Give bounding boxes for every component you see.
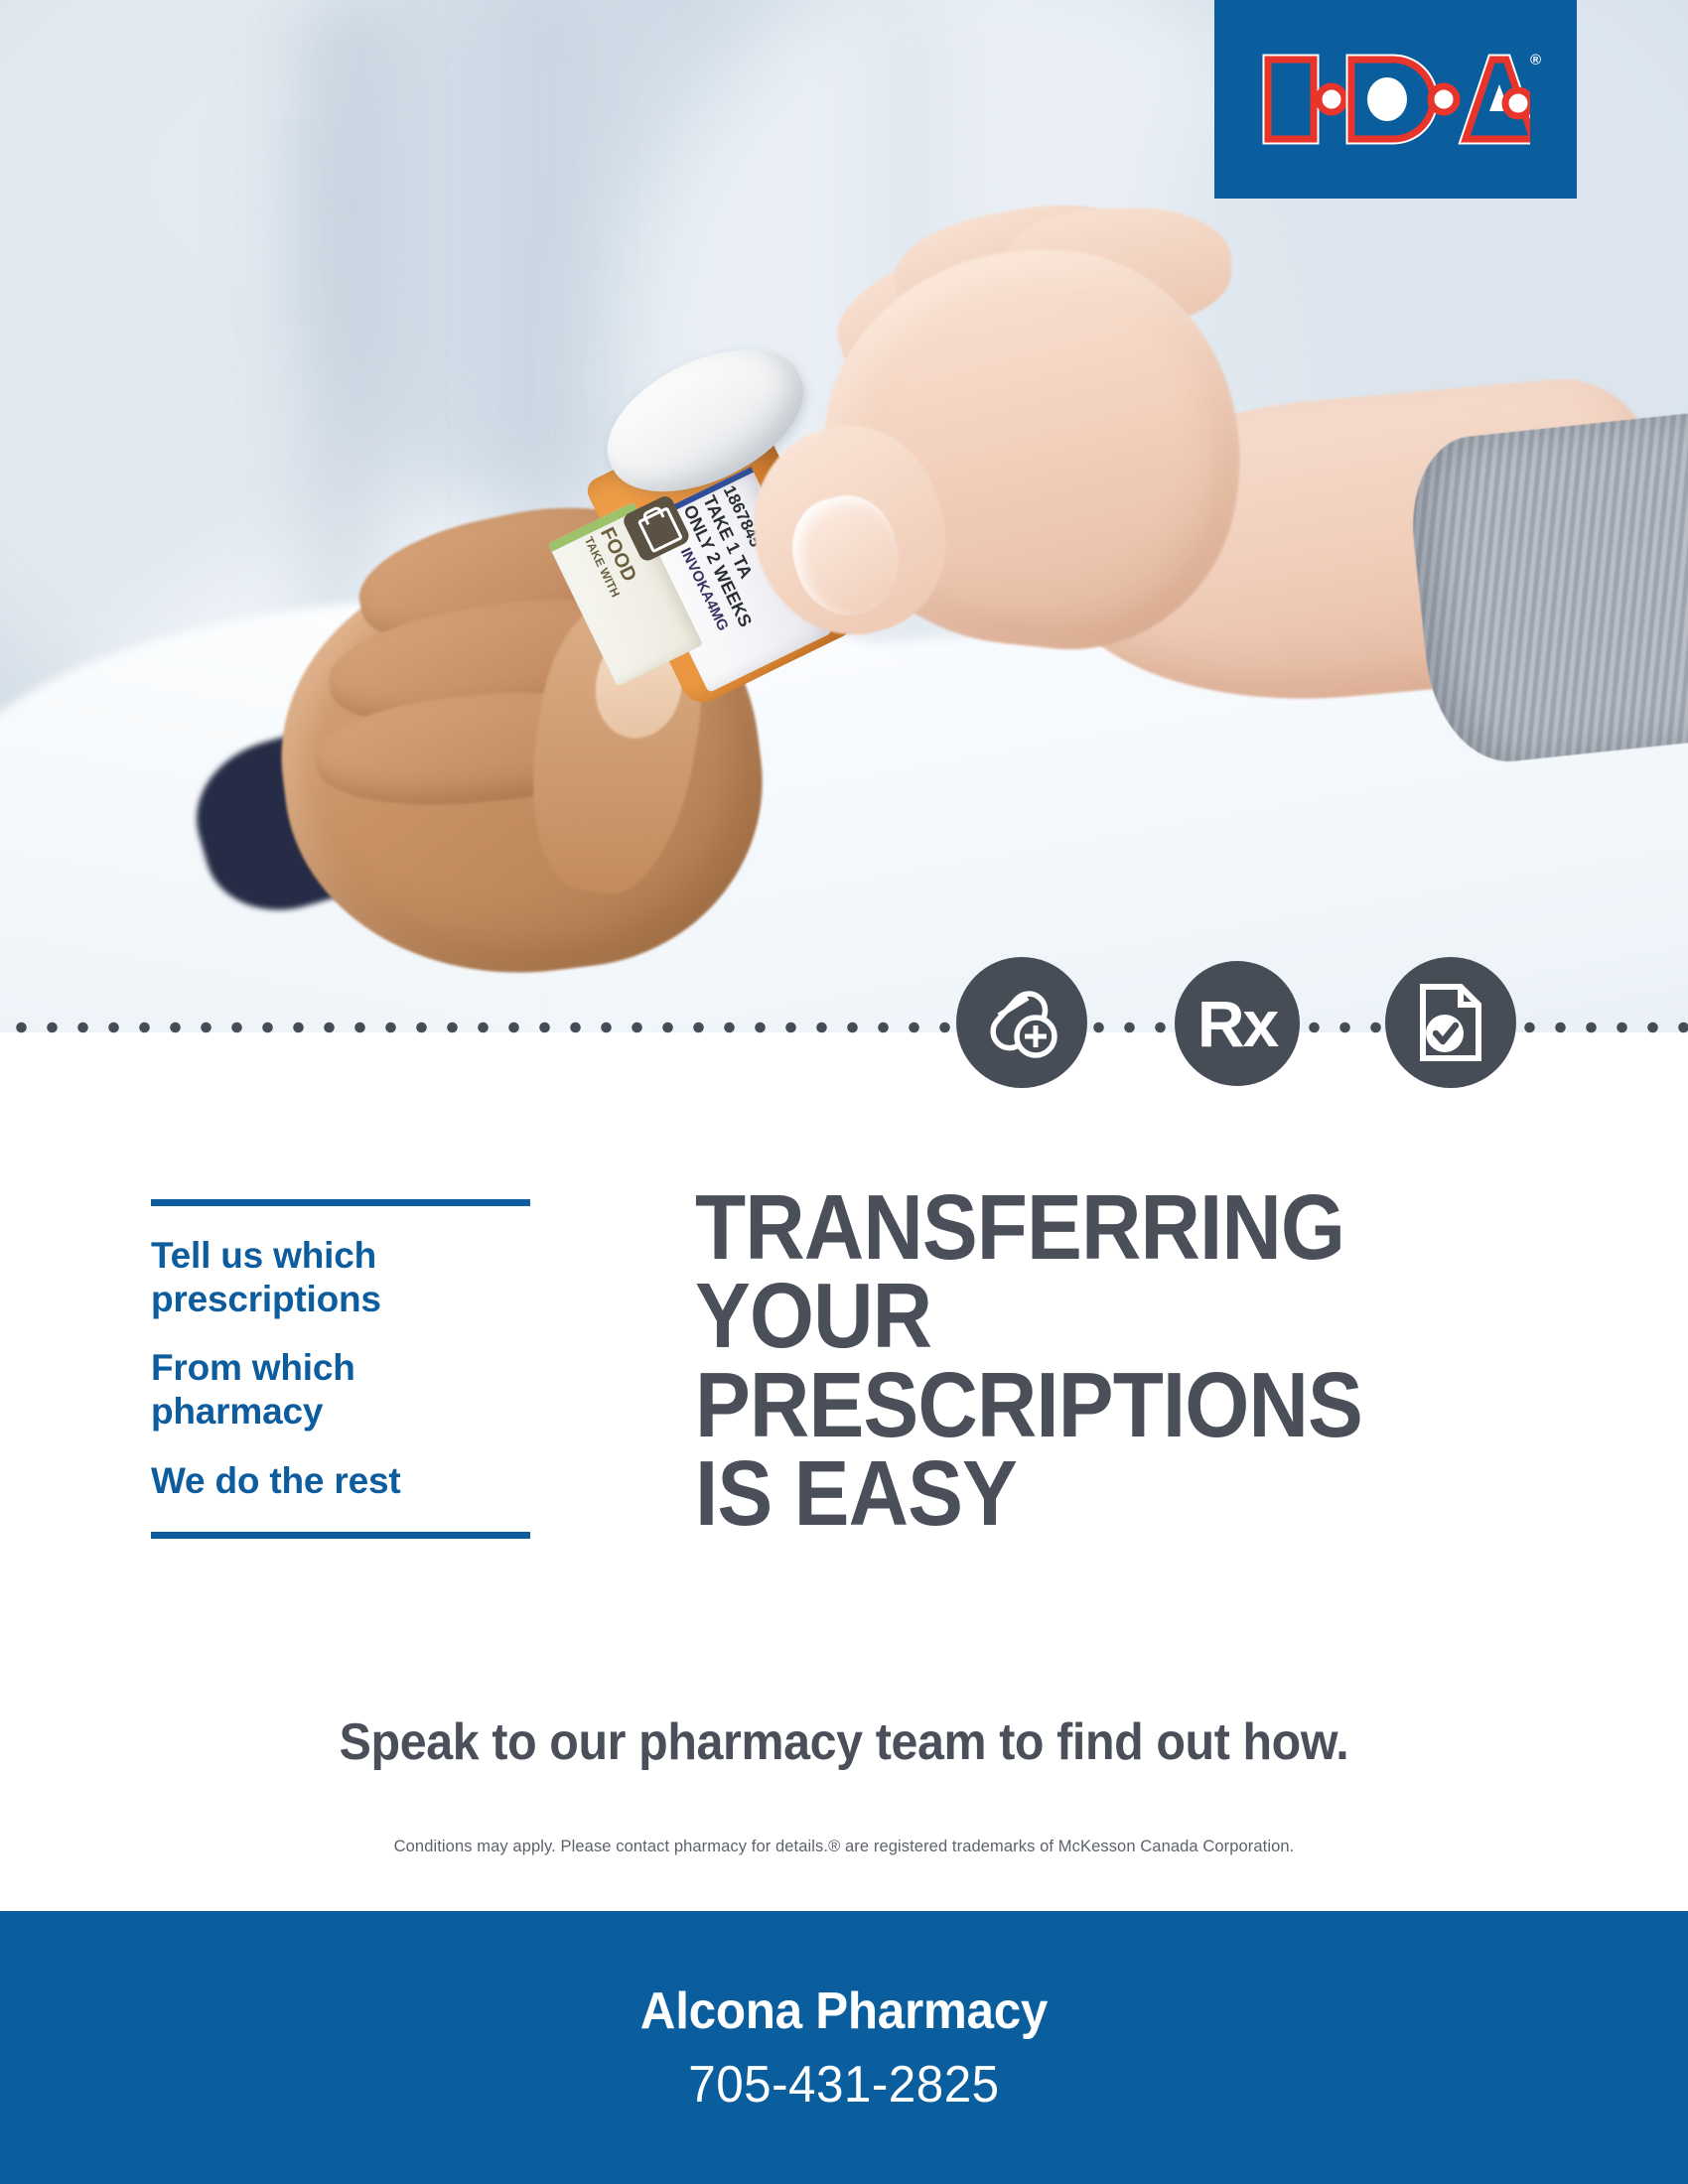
ida-logo: ®	[1214, 0, 1577, 199]
headline-line-2: YOUR	[695, 1272, 1437, 1360]
bullet-list: Tell us which prescriptions From which p…	[151, 1206, 530, 1532]
headline-line-1: TRANSFERRING	[695, 1183, 1437, 1272]
footer-bar: Alcona Pharmacy 705-431-2825	[0, 1911, 1688, 2184]
pills-plus-glyph	[983, 984, 1060, 1061]
pharmacy-name: Alcona Pharmacy	[640, 1981, 1048, 2041]
pills-plus-icon	[956, 957, 1087, 1088]
icon-badge-row: Rx	[0, 953, 1688, 1104]
call-to-action-text: Speak to our pharmacy team to find out h…	[60, 1712, 1629, 1772]
page-title: TRANSFERRING YOUR PRESCRIPTIONS IS EASY	[695, 1183, 1437, 1538]
list-item: We do the rest	[151, 1459, 530, 1503]
document-check-glyph	[1413, 982, 1488, 1063]
document-check-icon	[1385, 957, 1516, 1088]
bullet-rule-top	[151, 1199, 530, 1206]
pharmacy-phone[interactable]: 705-431-2825	[688, 2055, 999, 2115]
bullet-panel: Tell us which prescriptions From which p…	[151, 1199, 530, 1539]
registered-trademark-symbol: ®	[1530, 52, 1541, 68]
headline-line-3: PRESCRIPTIONS	[695, 1361, 1437, 1449]
rx-label: Rx	[1197, 991, 1277, 1056]
sweater-cuff	[1404, 412, 1688, 769]
list-item: Tell us which prescriptions	[151, 1234, 530, 1320]
rx-icon: Rx	[1175, 961, 1300, 1086]
bullet-rule-bottom	[151, 1532, 530, 1539]
ida-logo-mark	[1262, 52, 1530, 147]
headline-line-4: IS EASY	[695, 1449, 1437, 1538]
legal-fineprint: Conditions may apply. Please contact pha…	[0, 1838, 1688, 1856]
list-item: From which pharmacy	[151, 1346, 530, 1433]
